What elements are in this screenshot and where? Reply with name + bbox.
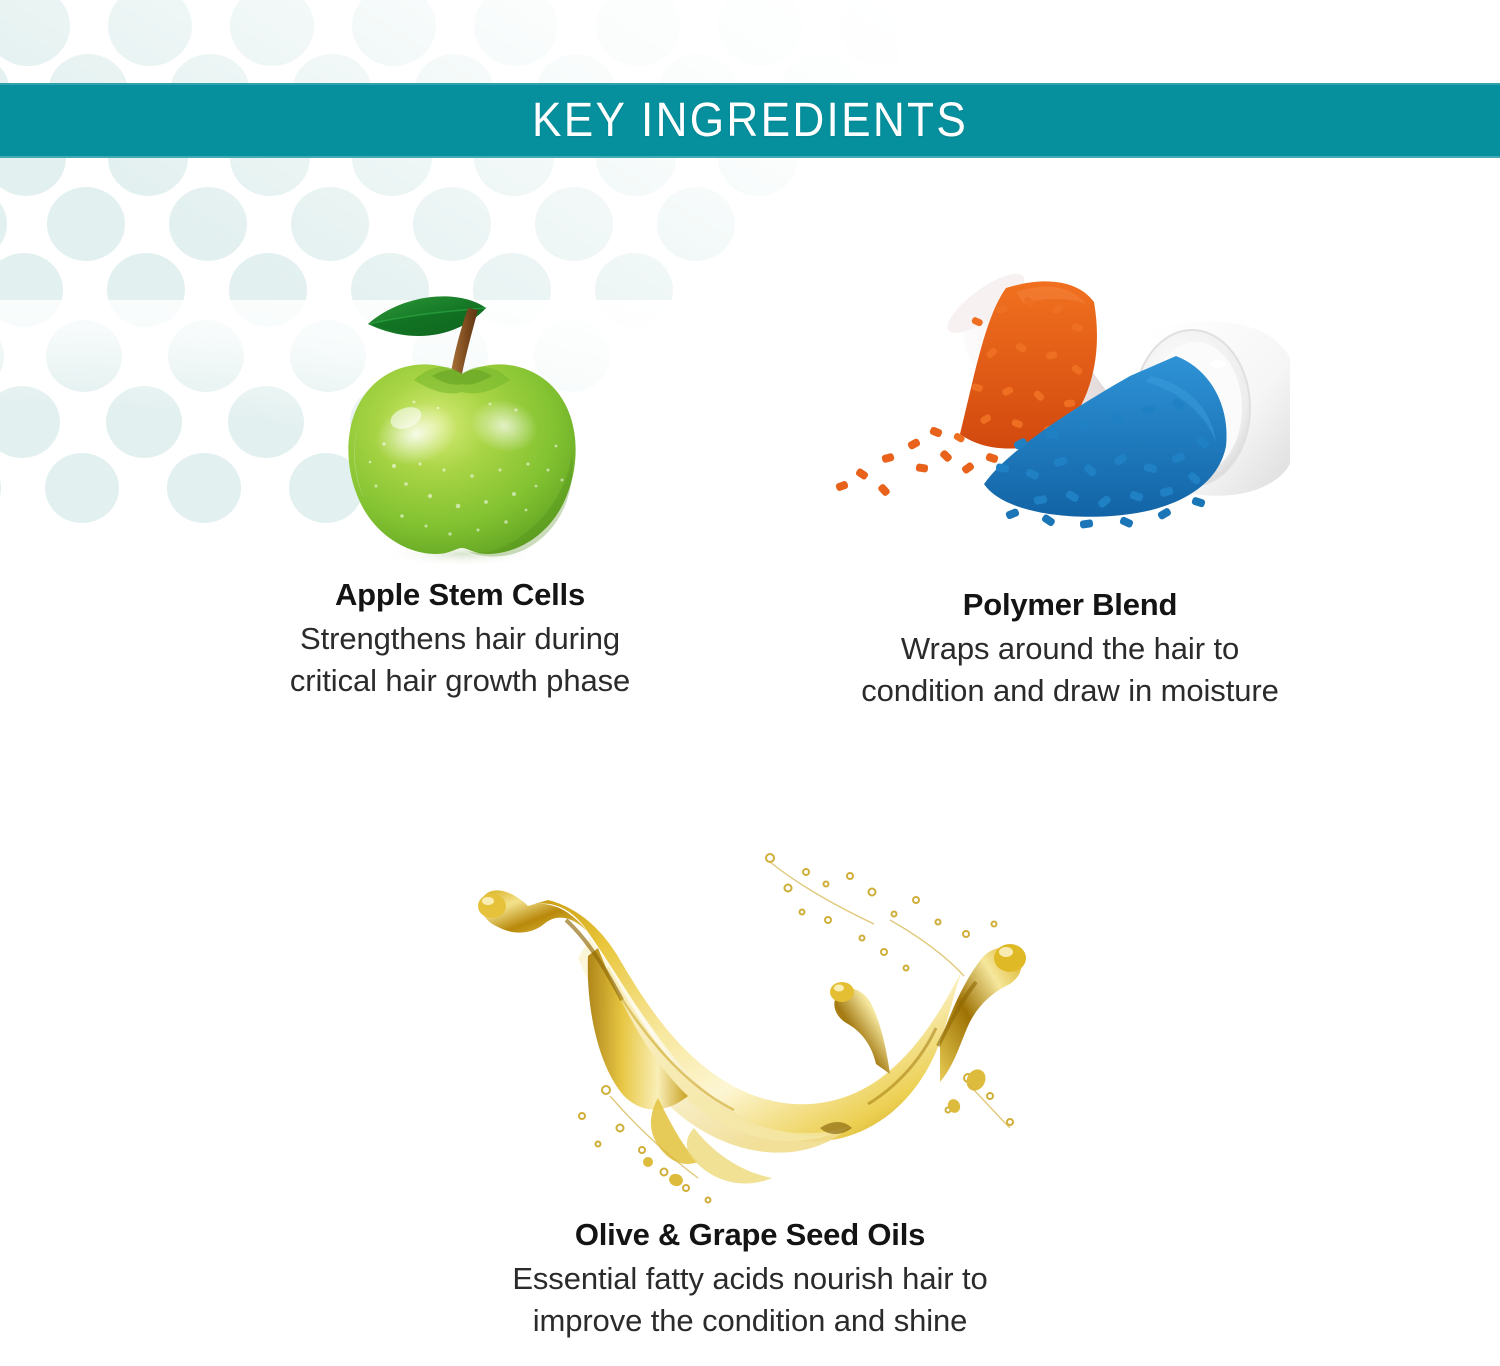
polymer-pellets-icon [820, 258, 1320, 588]
header-bottom-edge [0, 156, 1500, 158]
green-apple-icon [310, 258, 610, 578]
ingredient-description-line-1: Wraps around the hair to [700, 628, 1440, 670]
header-top-edge [0, 83, 1500, 85]
ingredient-title: Polymer Blend [700, 588, 1440, 622]
ingredient-card-olive-grape-seed-oils: Olive & Grape Seed Oils Essential fatty … [330, 828, 1170, 1342]
key-ingredients-page: KEY INGREDIENTS [0, 0, 1500, 1366]
key-ingredients-header: KEY INGREDIENTS [0, 83, 1500, 158]
oil-splash-icon [470, 828, 1030, 1218]
ingredient-description-line-2: condition and draw in moisture [700, 670, 1440, 712]
ingredient-description-line-2: improve the condition and shine [330, 1300, 1170, 1342]
ingredient-title: Olive & Grape Seed Oils [330, 1218, 1170, 1252]
ingredient-card-polymer-blend: Polymer Blend Wraps around the hair to c… [700, 258, 1440, 712]
page-title: KEY INGREDIENTS [532, 93, 968, 148]
ingredient-description-line-1: Essential fatty acids nourish hair to [330, 1258, 1170, 1300]
ingredients-grid: Apple Stem Cells Strengthens hair during… [0, 158, 1500, 1366]
